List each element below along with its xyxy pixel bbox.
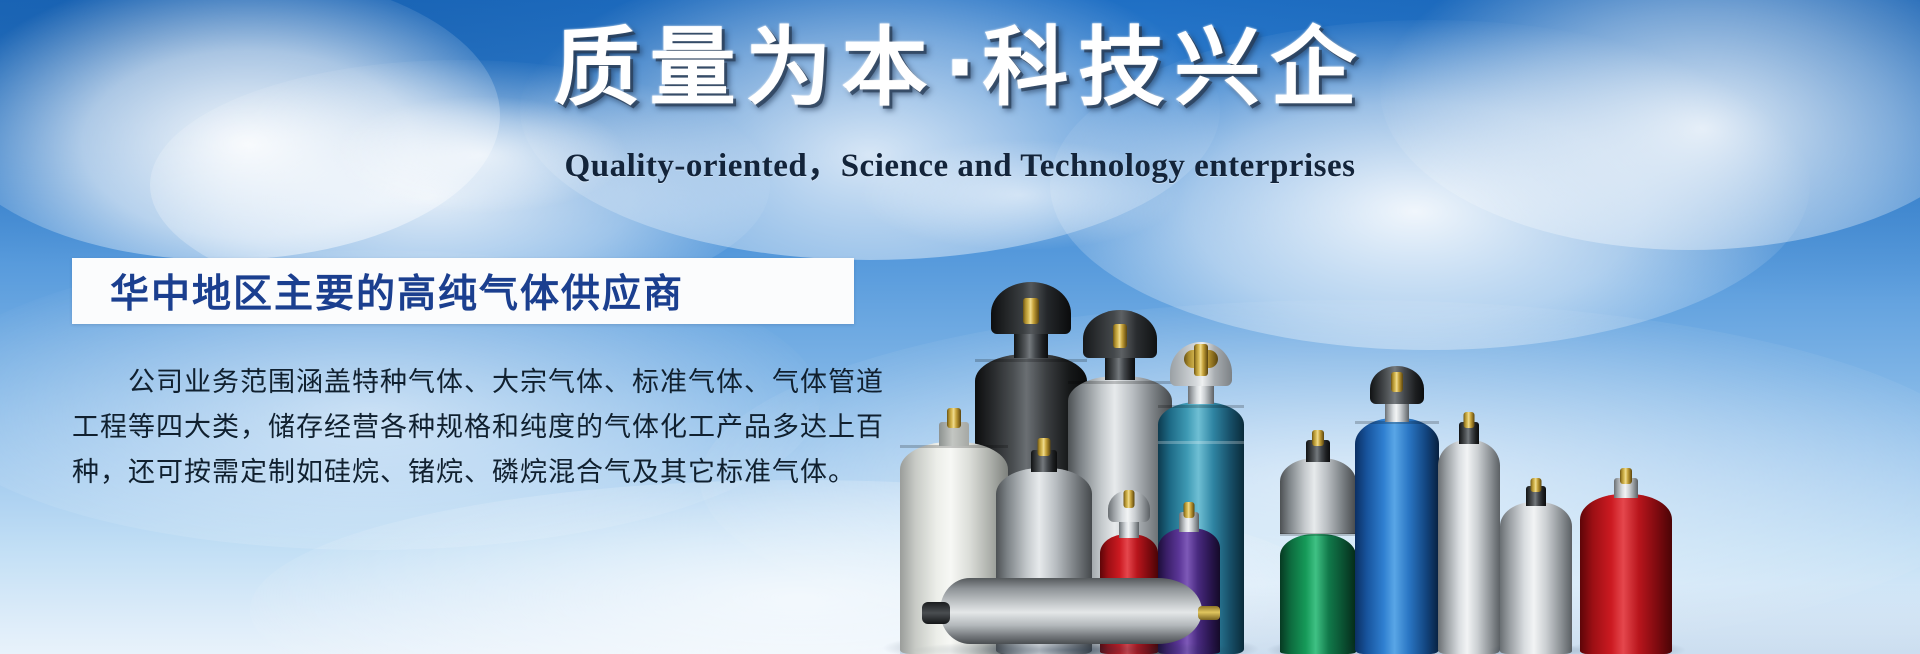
silver-aluminium-cylinder <box>1500 474 1572 654</box>
blue-tall-cylinder <box>1355 364 1439 654</box>
headline-part-2: 科技兴企 <box>982 18 1366 118</box>
hero-banner: 质量为本·科技兴企 Quality-oriented，Science and T… <box>0 0 1920 654</box>
paragraph-line-2: 工程等四大类，储存经营各种规格和纯度的气体化工产品多达上百 <box>72 405 872 450</box>
paragraph-line-3: 种，还可按需定制如硅烷、锗烷、磷烷混合气及其它标准气体。 <box>72 450 872 495</box>
description-paragraph: 公司业务范围涵盖特种气体、大宗气体、标准气体、气体管道 工程等四大类，储存经营各… <box>72 360 872 495</box>
subtitle: Quality-oriented，Science and Technology … <box>0 138 1920 186</box>
headline-part-1: 质量为本 <box>554 18 938 118</box>
red-wide-cylinder <box>1580 464 1672 654</box>
paragraph-line-1: 公司业务范围涵盖特种气体、大宗气体、标准气体、气体管道 <box>72 360 872 405</box>
headline-separator: · <box>938 18 983 118</box>
highlight-callout-box: 华中地区主要的高纯气体供应商 <box>72 258 854 324</box>
highlight-callout-text: 华中地区主要的高纯气体供应商 <box>110 263 684 319</box>
silver-slim-cylinder <box>1438 406 1500 654</box>
gas-cylinder-group-photo <box>900 234 1920 654</box>
grey-horizontal-cylinder <box>920 570 1220 654</box>
page-title: 质量为本·科技兴企 <box>0 22 1920 115</box>
green-small-cylinder <box>1280 442 1356 654</box>
